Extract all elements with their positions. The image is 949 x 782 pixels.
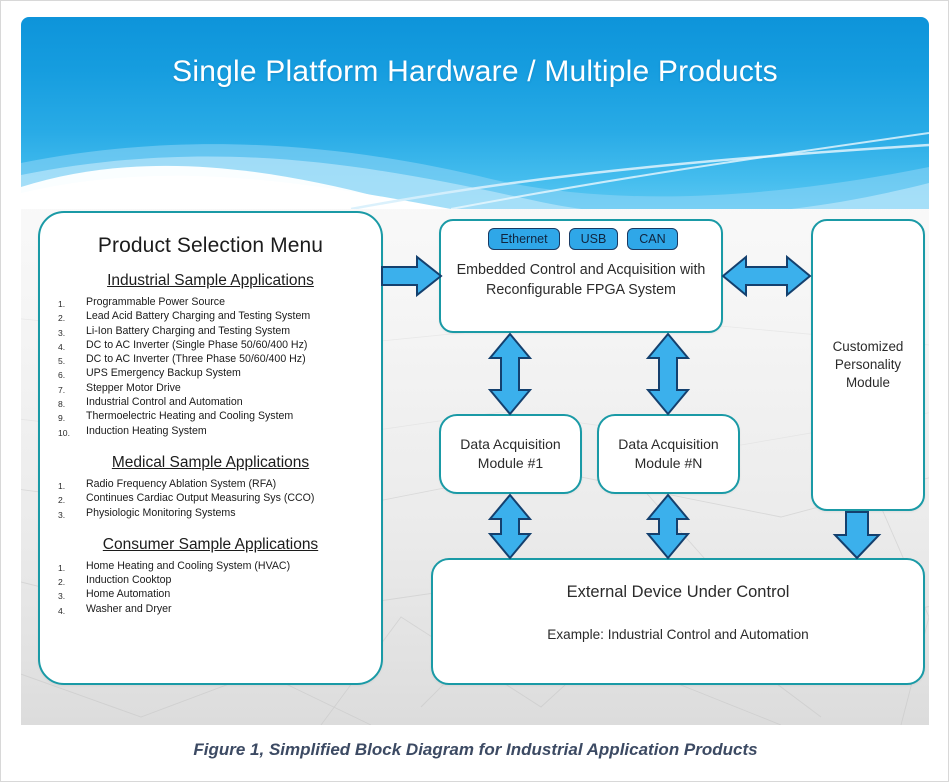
fpga-block-label: Embedded Control and Acquisition with Re… — [449, 261, 713, 300]
arrow-daqn-to-external — [648, 495, 688, 558]
daqn-label: Data Acquisition Module #N — [603, 435, 734, 473]
section-heading-industrial: Industrial Sample Applications — [40, 272, 381, 290]
interface-badge-group: Ethernet USB CAN — [441, 228, 725, 250]
list-item[interactable]: DC to AC Inverter (Three Phase 50/60/400… — [82, 352, 371, 366]
list-item[interactable]: Industrial Control and Automation — [82, 395, 371, 409]
menu-title: Product Selection Menu — [40, 234, 381, 258]
list-item[interactable]: Induction Cooktop — [82, 573, 371, 587]
embedded-control-fpga-block: Ethernet USB CAN Embedded Control and Ac… — [439, 219, 723, 333]
list-item[interactable]: Stepper Motor Drive — [82, 381, 371, 395]
industrial-application-list: Programmable Power Source Lead Acid Batt… — [40, 295, 381, 438]
list-item[interactable]: Physiologic Monitoring Systems — [82, 506, 371, 520]
list-item[interactable]: Programmable Power Source — [82, 295, 371, 309]
banner-waves — [21, 17, 929, 209]
list-item[interactable]: DC to AC Inverter (Single Phase 50/60/40… — [82, 338, 371, 352]
product-selection-menu: Product Selection Menu Industrial Sample… — [38, 211, 383, 685]
medical-application-list: Radio Frequency Ablation System (RFA) Co… — [40, 477, 381, 520]
customized-personality-module: Customized Personality Module — [811, 219, 925, 511]
slide-canvas: Single Platform Hardware / Multiple Prod… — [21, 17, 929, 725]
page-title: Single Platform Hardware / Multiple Prod… — [21, 55, 929, 89]
header-banner: Single Platform Hardware / Multiple Prod… — [21, 17, 929, 209]
list-item[interactable]: Induction Heating System — [82, 424, 371, 438]
daq1-label: Data Acquisition Module #1 — [445, 435, 576, 473]
consumer-application-list: Home Heating and Cooling System (HVAC) I… — [40, 559, 381, 616]
section-heading-consumer: Consumer Sample Applications — [40, 536, 381, 554]
badge-can[interactable]: CAN — [627, 228, 677, 250]
list-item[interactable]: Thermoelectric Heating and Cooling Syste… — [82, 409, 371, 423]
arrow-menu-to-fpga — [382, 257, 441, 295]
arrow-fpga-to-personality — [723, 257, 810, 295]
list-item[interactable]: Washer and Dryer — [82, 602, 371, 616]
external-device-block: External Device Under Control Example: I… — [431, 558, 925, 685]
data-acquisition-module-1: Data Acquisition Module #1 — [439, 414, 582, 494]
list-item[interactable]: Radio Frequency Ablation System (RFA) — [82, 477, 371, 491]
list-item[interactable]: Lead Acid Battery Charging and Testing S… — [82, 309, 371, 323]
badge-ethernet[interactable]: Ethernet — [488, 228, 559, 250]
figure-root: Single Platform Hardware / Multiple Prod… — [0, 0, 949, 782]
personality-module-label: Customized Personality Module — [819, 338, 917, 392]
data-acquisition-module-n: Data Acquisition Module #N — [597, 414, 740, 494]
section-heading-medical: Medical Sample Applications — [40, 454, 381, 472]
external-device-subtitle: Example: Industrial Control and Automati… — [433, 627, 923, 642]
figure-caption: Figure 1, Simplified Block Diagram for I… — [1, 740, 949, 760]
list-item[interactable]: Home Heating and Cooling System (HVAC) — [82, 559, 371, 573]
badge-usb[interactable]: USB — [569, 228, 619, 250]
list-item[interactable]: Li-Ion Battery Charging and Testing Syst… — [82, 324, 371, 338]
list-item[interactable]: Continues Cardiac Output Measuring Sys (… — [82, 491, 371, 505]
arrow-daq1-to-external — [490, 495, 530, 558]
arrow-fpga-to-daqn — [648, 334, 688, 414]
list-item[interactable]: Home Automation — [82, 587, 371, 601]
arrow-fpga-to-daq1 — [490, 334, 530, 414]
external-device-title: External Device Under Control — [433, 583, 923, 602]
list-item[interactable]: UPS Emergency Backup System — [82, 366, 371, 380]
arrow-personality-to-external — [835, 512, 879, 558]
